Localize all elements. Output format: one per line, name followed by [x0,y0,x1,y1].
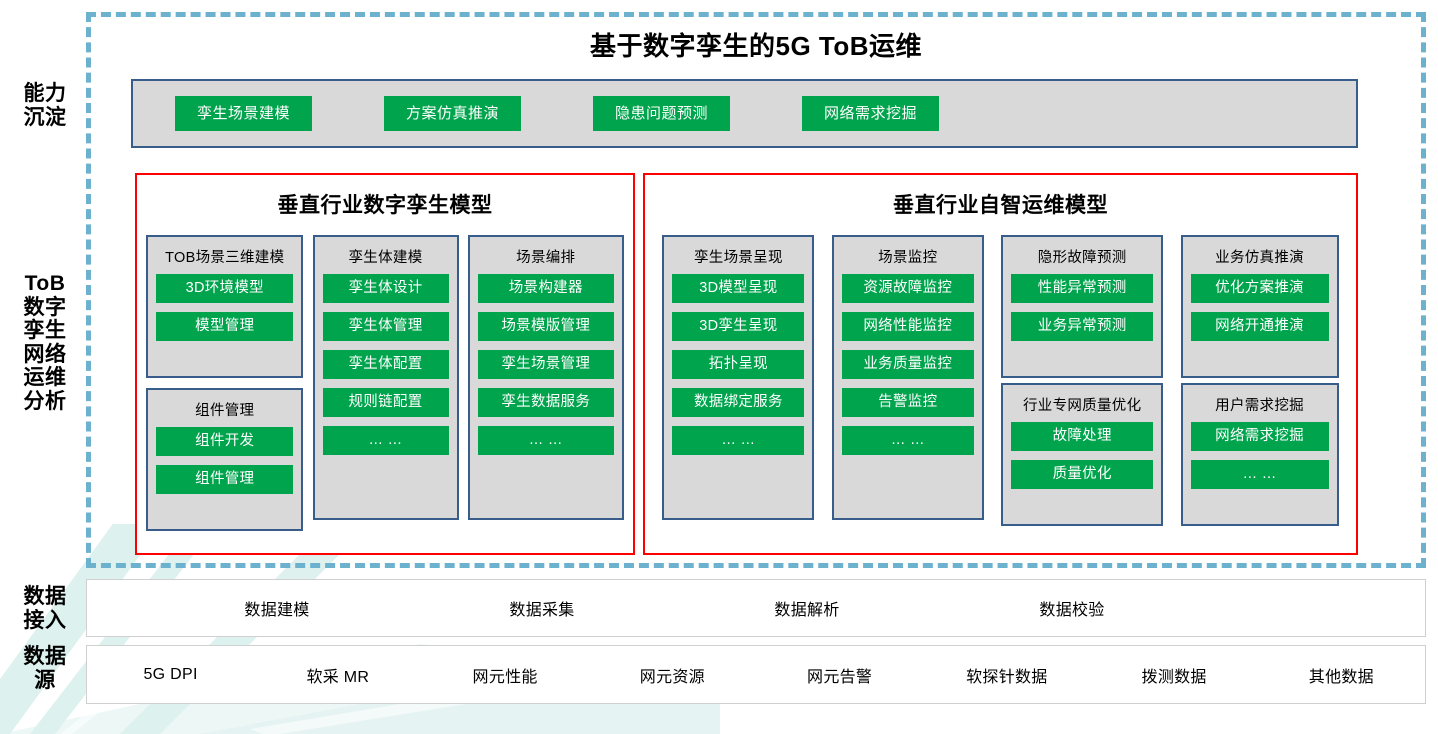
data-source-item-7[interactable]: 其他数据 [1258,663,1425,687]
item-data-binding-service[interactable]: 数据绑定服务 [672,388,804,417]
data-source-item-6[interactable]: 拨测数据 [1091,663,1258,687]
group-title: 孪生体建模 [349,246,423,267]
item-scene-template-management[interactable]: 场景模版管理 [478,312,614,341]
group-title: 组件管理 [195,399,254,420]
row-label-data-source: 数据 源 [8,645,82,692]
row-label-source-line1: 数据 [8,645,82,669]
item-rule-chain-config[interactable]: 规则链配置 [323,388,449,417]
group-scene-orchestration: 场景编排 场景构建器 场景模版管理 孪生场景管理 孪生数据服务 … … [468,235,624,520]
capability-chip-3[interactable]: 网络需求挖掘 [802,96,939,131]
item-more-ellipsis[interactable]: … … [323,426,449,455]
group-title: 业务仿真推演 [1215,246,1304,267]
panel-right-column-0: 孪生场景呈现 3D模型呈现 3D孪生呈现 拓扑呈现 数据绑定服务 … … [662,235,814,520]
capability-bar: 孪生场景建模 方案仿真推演 隐患问题预测 网络需求挖掘 [131,79,1358,148]
panel-right-column-1: 场景监控 资源故障监控 网络性能监控 业务质量监控 告警监控 … … [832,235,984,520]
group-user-demand-mining: 用户需求挖掘 网络需求挖掘 … … [1181,383,1339,526]
item-more-ellipsis[interactable]: … … [478,426,614,455]
panel-left-column-0: TOB场景三维建模 3D环境模型 模型管理 组件管理 组件开发 组件管理 [146,235,303,531]
group-title: 行业专网质量优化 [1023,394,1141,415]
data-access-bar: 数据建模 数据采集 数据解析 数据校验 [86,579,1426,637]
capability-chip-2[interactable]: 隐患问题预测 [593,96,730,131]
item-topology-presentation[interactable]: 拓扑呈现 [672,350,804,379]
group-hidden-fault-prediction: 隐形故障预测 性能异常预测 业务异常预测 [1001,235,1163,378]
data-source-item-1[interactable]: 软采 MR [254,663,421,687]
group-twin-scene-presentation: 孪生场景呈现 3D模型呈现 3D孪生呈现 拓扑呈现 数据绑定服务 … … [662,235,814,520]
panel-right-title: 垂直行业自智运维模型 [645,189,1356,219]
row-label-twin-line-4: 运维 [10,366,80,390]
data-source-item-5[interactable]: 软探针数据 [923,663,1090,687]
row-label-tob-twin-network: ToB 数字 孪生 网络 运维 分析 [10,272,80,413]
row-label-access-line1: 数据 [8,585,82,609]
item-3d-model-presentation[interactable]: 3D模型呈现 [672,274,804,303]
group-component-management: 组件管理 组件开发 组件管理 [146,388,303,531]
row-label-twin-line-5: 分析 [10,390,80,414]
item-twin-entity-config[interactable]: 孪生体配置 [323,350,449,379]
group-tob-scene-3d-modeling: TOB场景三维建模 3D环境模型 模型管理 [146,235,303,378]
capability-chip-0[interactable]: 孪生场景建模 [175,96,312,131]
data-source-item-0[interactable]: 5G DPI [87,666,254,684]
panel-autonomous-ops-model: 垂直行业自智运维模型 孪生场景呈现 3D模型呈现 3D孪生呈现 拓扑呈现 数据绑… [643,173,1358,555]
data-access-item-2[interactable]: 数据解析 [712,596,902,620]
item-service-quality-monitoring[interactable]: 业务质量监控 [842,350,974,379]
item-more-ellipsis[interactable]: … … [1191,460,1329,489]
item-resource-fault-monitoring[interactable]: 资源故障监控 [842,274,974,303]
data-source-item-4[interactable]: 网元告警 [756,663,923,687]
item-fault-handling[interactable]: 故障处理 [1011,422,1153,451]
group-title: 隐形故障预测 [1038,246,1127,267]
item-network-provisioning-deduction[interactable]: 网络开通推演 [1191,312,1329,341]
panel-right-column-3: 业务仿真推演 优化方案推演 网络开通推演 用户需求挖掘 网络需求挖掘 … … [1181,235,1339,526]
item-quality-optimization[interactable]: 质量优化 [1011,460,1153,489]
item-3d-twin-presentation[interactable]: 3D孪生呈现 [672,312,804,341]
item-3d-environment-model[interactable]: 3D环境模型 [156,274,293,303]
item-twin-scene-management[interactable]: 孪生场景管理 [478,350,614,379]
row-label-twin-line-2: 孪生 [10,319,80,343]
capability-chip-1[interactable]: 方案仿真推演 [384,96,521,131]
item-component-management[interactable]: 组件管理 [156,465,293,494]
data-access-item-3[interactable]: 数据校验 [977,596,1167,620]
group-industry-private-network-quality-optimization: 行业专网质量优化 故障处理 质量优化 [1001,383,1163,526]
item-component-development[interactable]: 组件开发 [156,427,293,456]
item-model-management[interactable]: 模型管理 [156,312,293,341]
item-optimization-plan-deduction[interactable]: 优化方案推演 [1191,274,1329,303]
panel-left-column-2: 场景编排 场景构建器 场景模版管理 孪生场景管理 孪生数据服务 … … [468,235,624,520]
item-performance-anomaly-prediction[interactable]: 性能异常预测 [1011,274,1153,303]
panel-right-column-2: 隐形故障预测 性能异常预测 业务异常预测 行业专网质量优化 故障处理 质量优化 [1001,235,1163,526]
group-scene-monitoring: 场景监控 资源故障监控 网络性能监控 业务质量监控 告警监控 … … [832,235,984,520]
data-source-item-3[interactable]: 网元资源 [589,663,756,687]
data-source-bar: 5G DPI 软采 MR 网元性能 网元资源 网元告警 软探针数据 拨测数据 其… [86,645,1426,704]
row-label-data-access: 数据 接入 [8,585,82,632]
item-twin-entity-design[interactable]: 孪生体设计 [323,274,449,303]
item-network-demand-mining[interactable]: 网络需求挖掘 [1191,422,1329,451]
panel-left-column-1: 孪生体建模 孪生体设计 孪生体管理 孪生体配置 规则链配置 … … [313,235,459,520]
item-more-ellipsis[interactable]: … … [842,426,974,455]
group-title: 孪生场景呈现 [694,246,783,267]
panel-digital-twin-model: 垂直行业数字孪生模型 TOB场景三维建模 3D环境模型 模型管理 组件管理 组件… [135,173,635,555]
row-label-twin-line-3: 网络 [10,343,80,367]
data-access-item-0[interactable]: 数据建模 [182,596,372,620]
group-title: TOB场景三维建模 [165,246,284,267]
group-title: 用户需求挖掘 [1215,394,1304,415]
panel-left-title: 垂直行业数字孪生模型 [137,189,633,219]
row-label-twin-line-0: ToB [10,272,80,296]
row-label-source-line2: 源 [8,669,82,693]
group-service-simulation-deduction: 业务仿真推演 优化方案推演 网络开通推演 [1181,235,1339,378]
item-twin-data-service[interactable]: 孪生数据服务 [478,388,614,417]
group-title: 场景编排 [516,246,575,267]
row-label-access-line2: 接入 [8,609,82,633]
row-label-twin-line-1: 数字 [10,296,80,320]
item-network-performance-monitoring[interactable]: 网络性能监控 [842,312,974,341]
group-twin-entity-modeling: 孪生体建模 孪生体设计 孪生体管理 孪生体配置 规则链配置 … … [313,235,459,520]
group-title: 场景监控 [878,246,937,267]
item-scene-builder[interactable]: 场景构建器 [478,274,614,303]
data-source-item-2[interactable]: 网元性能 [422,663,589,687]
data-access-item-1[interactable]: 数据采集 [447,596,637,620]
item-alarm-monitoring[interactable]: 告警监控 [842,388,974,417]
row-label-capability: 能力 沉淀 [8,82,82,129]
page-title: 基于数字孪生的5G ToB运维 [86,26,1426,63]
item-service-anomaly-prediction[interactable]: 业务异常预测 [1011,312,1153,341]
row-label-capability-line1: 能力 [8,82,82,106]
item-twin-entity-management[interactable]: 孪生体管理 [323,312,449,341]
row-label-capability-line2: 沉淀 [8,106,82,130]
item-more-ellipsis[interactable]: … … [672,426,804,455]
